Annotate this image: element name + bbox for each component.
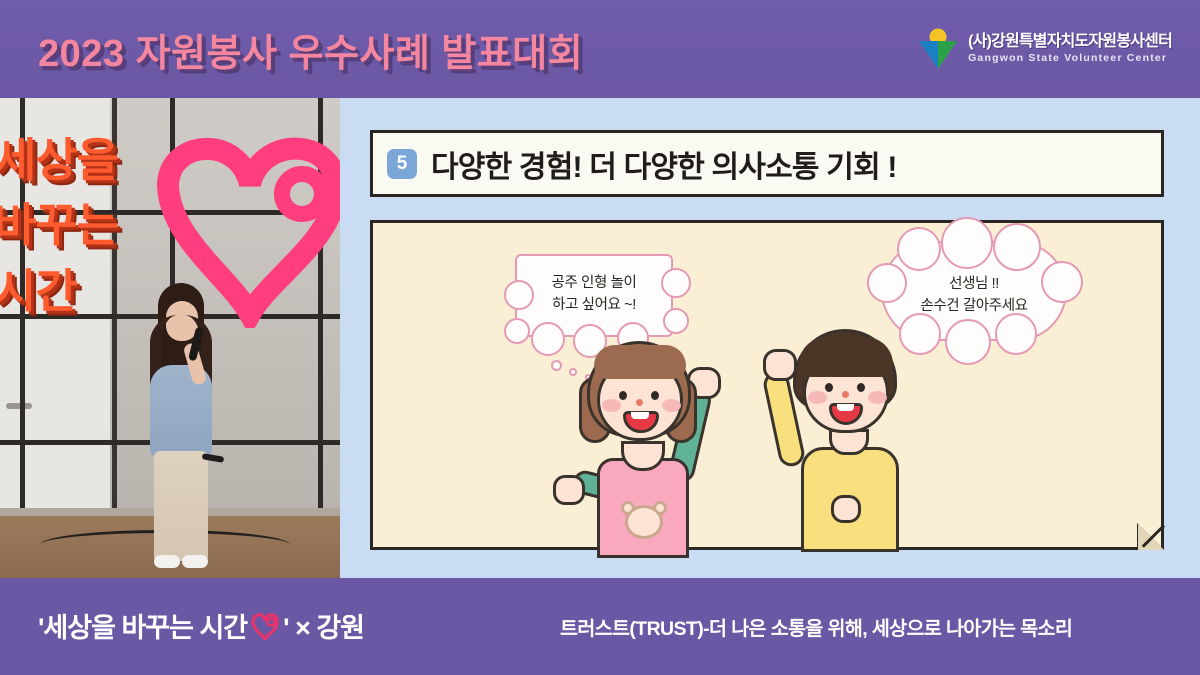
presenter-video-pane: 세상을 바꾸는 시간 (0, 98, 340, 578)
girl-thought-bubble: 공주 인형 놀이 하고 싶어요 ~! (515, 254, 673, 337)
brand-name-korean: (사)강원특별자치도자원봉사센터 (968, 34, 1172, 50)
girl-character (569, 333, 769, 553)
page-footer: '세상을 바꾸는 시간 ' × 강원 트러스트(TRUST)-더 나은 소통을 … (0, 578, 1200, 675)
screen-root: 2023 자원봉사 우수사례 발표대회 (사)강원특별자치도자원봉사센터 Gan… (0, 0, 1200, 675)
slide-title-box: 5 다양한 경험! 더 다양한 의사소통 기회 ! (370, 130, 1164, 197)
page-header: 2023 자원봉사 우수사례 발표대회 (사)강원특별자치도자원봉사센터 Gan… (0, 0, 1200, 98)
slide-title: 다양한 경험! 더 다양한 의사소통 기회 ! (431, 142, 897, 186)
backdrop-letter-line: 바꾸는 (0, 193, 165, 258)
organization-brand: (사)강원특별자치도자원봉사센터 Gangwon State Volunteer… (917, 27, 1172, 71)
event-title: 2023 자원봉사 우수사례 발표대회 (38, 22, 583, 77)
presentation-slide: 5 다양한 경험! 더 다양한 의사소통 기회 ! 공주 인형 놀이 하고 싶어… (340, 98, 1200, 578)
program-title-pre: '세상을 바꾸는 시간 (38, 606, 247, 645)
slide-number-badge: 5 (387, 149, 417, 179)
brand-name-english: Gangwon State Volunteer Center (968, 53, 1172, 64)
boy-character (777, 323, 977, 553)
footer-subtitle: 트러스트(TRUST)-더 나은 소통을 위해, 세상으로 나아가는 목소리 (560, 612, 1072, 641)
bubble-line: 선생님 !! (897, 273, 1051, 295)
program-title: '세상을 바꾸는 시간 ' × 강원 (38, 606, 364, 645)
presenter-figure (128, 283, 233, 578)
volunteer-heart-logo-icon (917, 27, 959, 71)
slide-content-panel: 공주 인형 놀이 하고 싶어요 ~! 선생님 !! 손수건 갈아주세요 (370, 220, 1164, 550)
backdrop-letter-line: 세상을 (0, 128, 165, 193)
bubble-line: 공주 인형 놀이 (527, 272, 661, 294)
pink-heart-icon (250, 612, 280, 640)
program-title-post: ' × 강원 (283, 606, 364, 645)
bubble-line: 하고 싶어요 ~! (527, 294, 661, 316)
video-door-handle (6, 403, 32, 409)
